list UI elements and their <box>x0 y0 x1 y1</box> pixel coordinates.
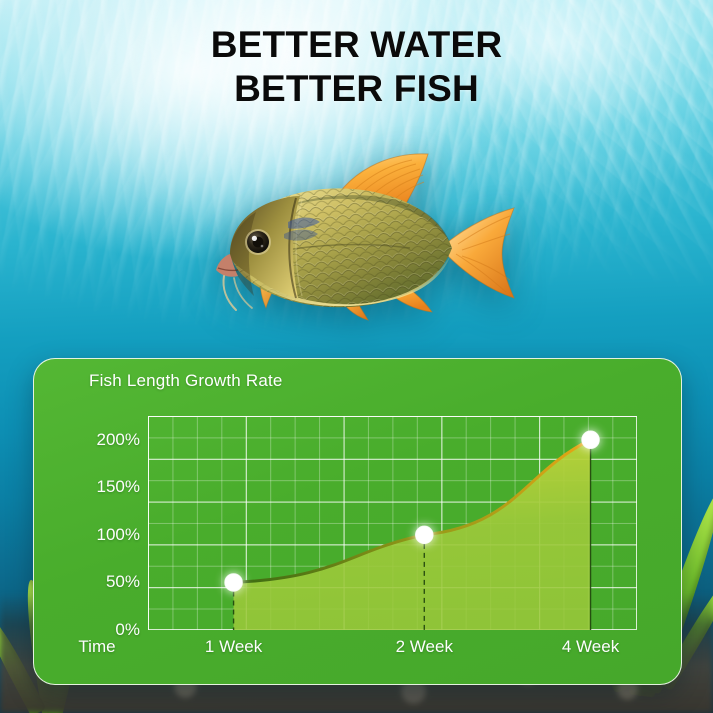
chart-plot-area <box>148 416 637 630</box>
data-point-marker <box>582 431 599 448</box>
headline-line-2: BETTER FISH <box>0 72 713 106</box>
data-point-marker <box>416 526 433 543</box>
headline-line-1: BETTER WATER <box>211 24 503 65</box>
growth-chart-card: Fish Length Growth Rate 200%150%100%50%0… <box>33 358 682 685</box>
x-tick-label: 1 Week <box>205 637 262 657</box>
carp-fish <box>196 130 526 335</box>
x-tick-label: 4 Week <box>562 637 619 657</box>
y-tick-label: 150% <box>97 477 140 497</box>
series-area-fill <box>234 440 591 630</box>
y-tick-label: 50% <box>106 572 140 592</box>
x-tick-label: 2 Week <box>396 637 453 657</box>
x-axis: Time1 Week2 Week4 Week <box>34 637 682 665</box>
y-axis: 200%150%100%50%0% <box>34 416 140 630</box>
page-title: BETTER WATER BETTER FISH <box>0 28 713 106</box>
y-tick-label: 100% <box>97 525 140 545</box>
data-point-marker <box>225 574 242 591</box>
x-axis-caption: Time <box>78 637 115 657</box>
y-tick-label: 200% <box>97 430 140 450</box>
growth-series <box>148 416 637 630</box>
chart-title: Fish Length Growth Rate <box>89 371 283 391</box>
